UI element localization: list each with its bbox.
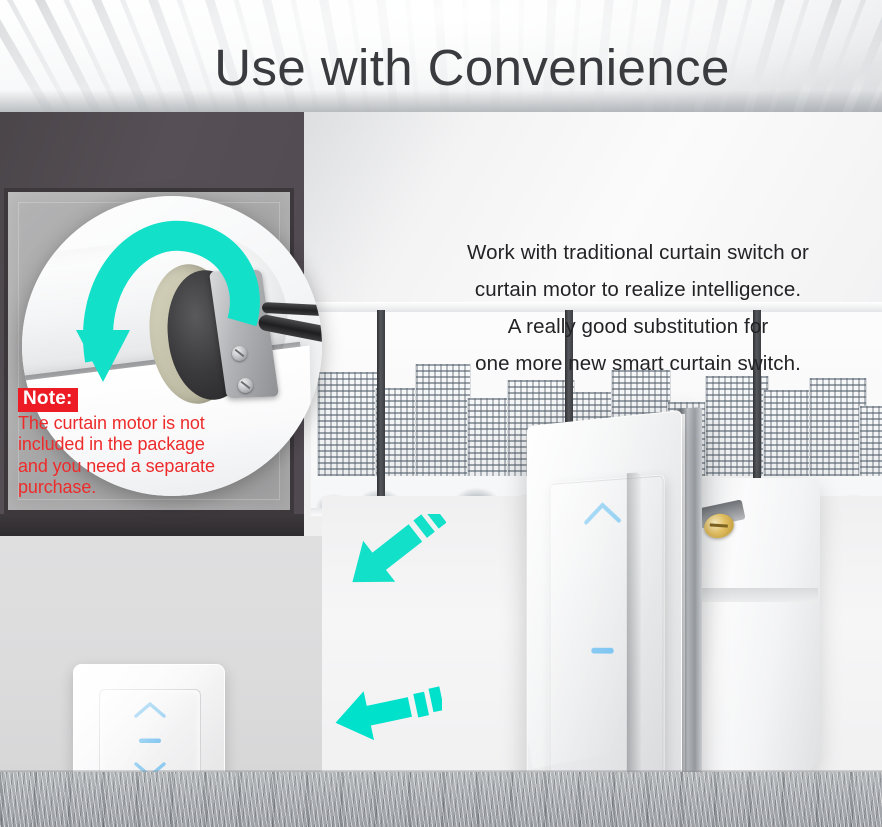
note-line: purchase. — [18, 477, 254, 499]
city-tower — [317, 372, 379, 476]
switch-rear-housing-groove — [694, 588, 818, 602]
dark-wall-baseboard — [0, 514, 304, 536]
city-tower — [859, 406, 882, 476]
note-body: The curtain motor is not included in the… — [18, 413, 254, 499]
page-title: Use with Convenience — [0, 42, 882, 93]
body-copy: Work with traditional curtain switch or … — [418, 234, 858, 382]
pointer-arrow-left-icon — [330, 678, 442, 742]
glass-gloss-reflection — [527, 410, 682, 769]
note-callout: Note: The curtain motor is not included … — [18, 388, 254, 499]
body-copy-line: one more new smart curtain switch. — [418, 345, 858, 382]
pointer-arrow-up-left-icon — [336, 514, 446, 590]
note-label: Note: — [18, 388, 78, 412]
window-mullion — [377, 310, 385, 506]
room-scene: Note: The curtain motor is not included … — [0, 96, 882, 772]
floor — [0, 772, 882, 827]
note-line: included in the package — [18, 434, 254, 456]
note-line: The curtain motor is not — [18, 413, 254, 435]
glass-faceplate[interactable] — [527, 410, 682, 827]
body-copy-line: curtain motor to realize intelligence. — [418, 271, 858, 308]
curved-rotation-arrow-icon — [70, 210, 270, 390]
body-copy-line: A really good substitution for — [418, 308, 858, 345]
smart-curtain-switch-glass-panel[interactable] — [498, 392, 818, 827]
note-line: and you need a separate — [18, 456, 254, 478]
body-copy-line: Work with traditional curtain switch or — [418, 234, 858, 271]
product-marketing-poster: Note: The curtain motor is not included … — [0, 0, 882, 827]
